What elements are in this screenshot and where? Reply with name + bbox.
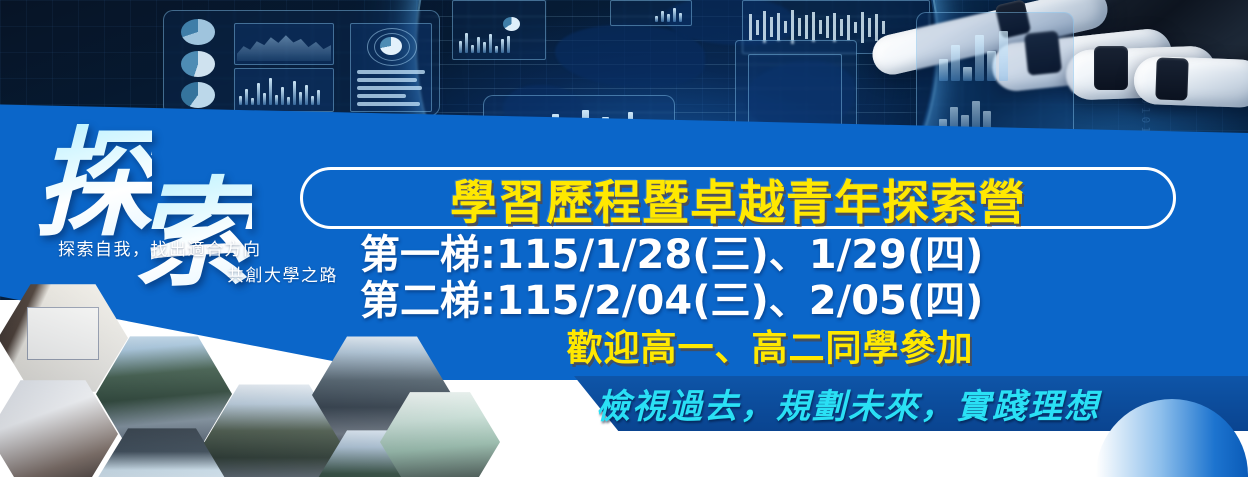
hud-mini-panel-center — [610, 0, 692, 26]
page-title: 學習歷程暨卓越青年探索營 — [306, 167, 1170, 229]
hud-pie-2 — [181, 51, 215, 77]
promotional-banner: 10110100101 10110100101 10110100101 — [0, 0, 1248, 477]
robot-knuckle-ring — [1094, 46, 1128, 90]
hud-area-chart — [237, 28, 331, 61]
hud-text-lines — [357, 70, 425, 106]
photo-collage — [0, 282, 514, 477]
hud-mini-panel-left — [452, 0, 546, 60]
session-date-row-1: 第一梯:115/1/28(三)、1/29(四) — [360, 233, 1160, 279]
hud-pie-4 — [380, 37, 402, 55]
welcome-notice: 歡迎高一、高二同學參加 — [470, 319, 1070, 371]
hud-hand-bars — [939, 27, 1008, 81]
hud-hand-overlay — [916, 12, 1074, 142]
hud-mini-pie — [503, 17, 520, 31]
hud-area-chart-frame — [234, 23, 334, 65]
hud-mini-bars-2 — [655, 6, 682, 22]
hud-mini-bars — [459, 31, 510, 53]
robot-finger-pinky — [1133, 56, 1248, 109]
hud-frame-right-inner — [748, 54, 842, 128]
hud-detail-frame — [350, 23, 432, 112]
robot-knuckle-pinky — [1155, 57, 1188, 100]
tagline-line-1: 探索自我，找出適合方向 — [58, 240, 262, 260]
explore-logo: 探 索 — [34, 100, 334, 235]
hud-pie-1 — [181, 19, 215, 45]
